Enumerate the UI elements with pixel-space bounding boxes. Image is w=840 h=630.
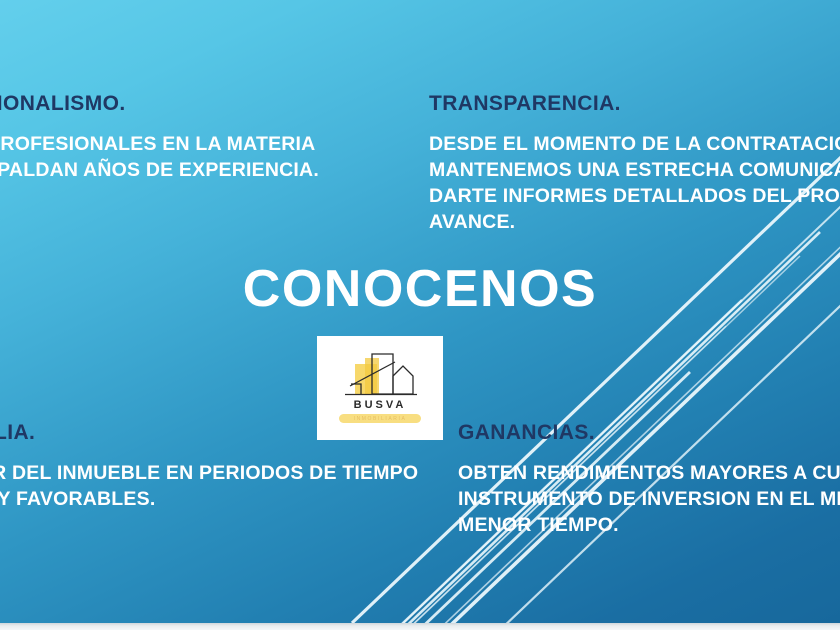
- body-line: MANTENEMOS UNA ESTRECHA COMUNICACION: [429, 158, 840, 184]
- body-line: OBTEN RENDIMIENTOS MAYORES A CUALQUIER: [458, 461, 840, 487]
- heading-transparencia: TRANSPARENCIA.: [429, 92, 621, 115]
- body-line: DESDE EL MOMENTO DE LA CONTRATACION: [429, 132, 840, 158]
- body-line: EL VALOR DEL INMUEBLE EN PERIODOS DE TIE…: [0, 461, 418, 487]
- slide-title: CONOCENOS: [0, 263, 840, 315]
- body-line: MENOR TIEMPO.: [458, 513, 840, 539]
- body-line: QUE RESPALDAN AÑOS DE EXPERIENCIA.: [0, 158, 319, 184]
- body-line: CORTOS Y FAVORABLES.: [0, 487, 418, 513]
- slide-canvas: PROFESIONALISMO. SOMOS PROFESIONALES EN …: [0, 0, 840, 623]
- busva-logo-card: BUSVA Inmobiliaria: [317, 336, 443, 440]
- body-line: SOMOS PROFESIONALES EN LA MATERIA: [0, 132, 319, 158]
- body-line: INSTRUMENTO DE INVERSION EN EL MERCADO E…: [458, 487, 840, 513]
- body-plusvalia: EL VALOR DEL INMUEBLE EN PERIODOS DE TIE…: [0, 461, 418, 513]
- heading-ganancias: GANANCIAS.: [458, 421, 595, 444]
- body-transparencia: DESDE EL MOMENTO DE LA CONTRATACION MANT…: [429, 132, 840, 236]
- body-profesionalismo: SOMOS PROFESIONALES EN LA MATERIA QUE RE…: [0, 132, 319, 184]
- body-line: AVANCE.: [429, 210, 840, 236]
- body-ganancias: OBTEN RENDIMIENTOS MAYORES A CUALQUIER I…: [458, 461, 840, 539]
- viewer-bottom-edge: [0, 623, 840, 630]
- heading-profesionalismo: PROFESIONALISMO.: [0, 92, 126, 115]
- body-line: DARTE INFORMES DETALLADOS DEL PROCESO: [429, 184, 840, 210]
- logo-wordmark: BUSVA: [317, 399, 443, 411]
- heading-plusvalia: PLUSVALIA.: [0, 421, 35, 444]
- busva-logo-mark: [317, 336, 443, 440]
- logo-tagline: Inmobiliaria: [317, 416, 443, 422]
